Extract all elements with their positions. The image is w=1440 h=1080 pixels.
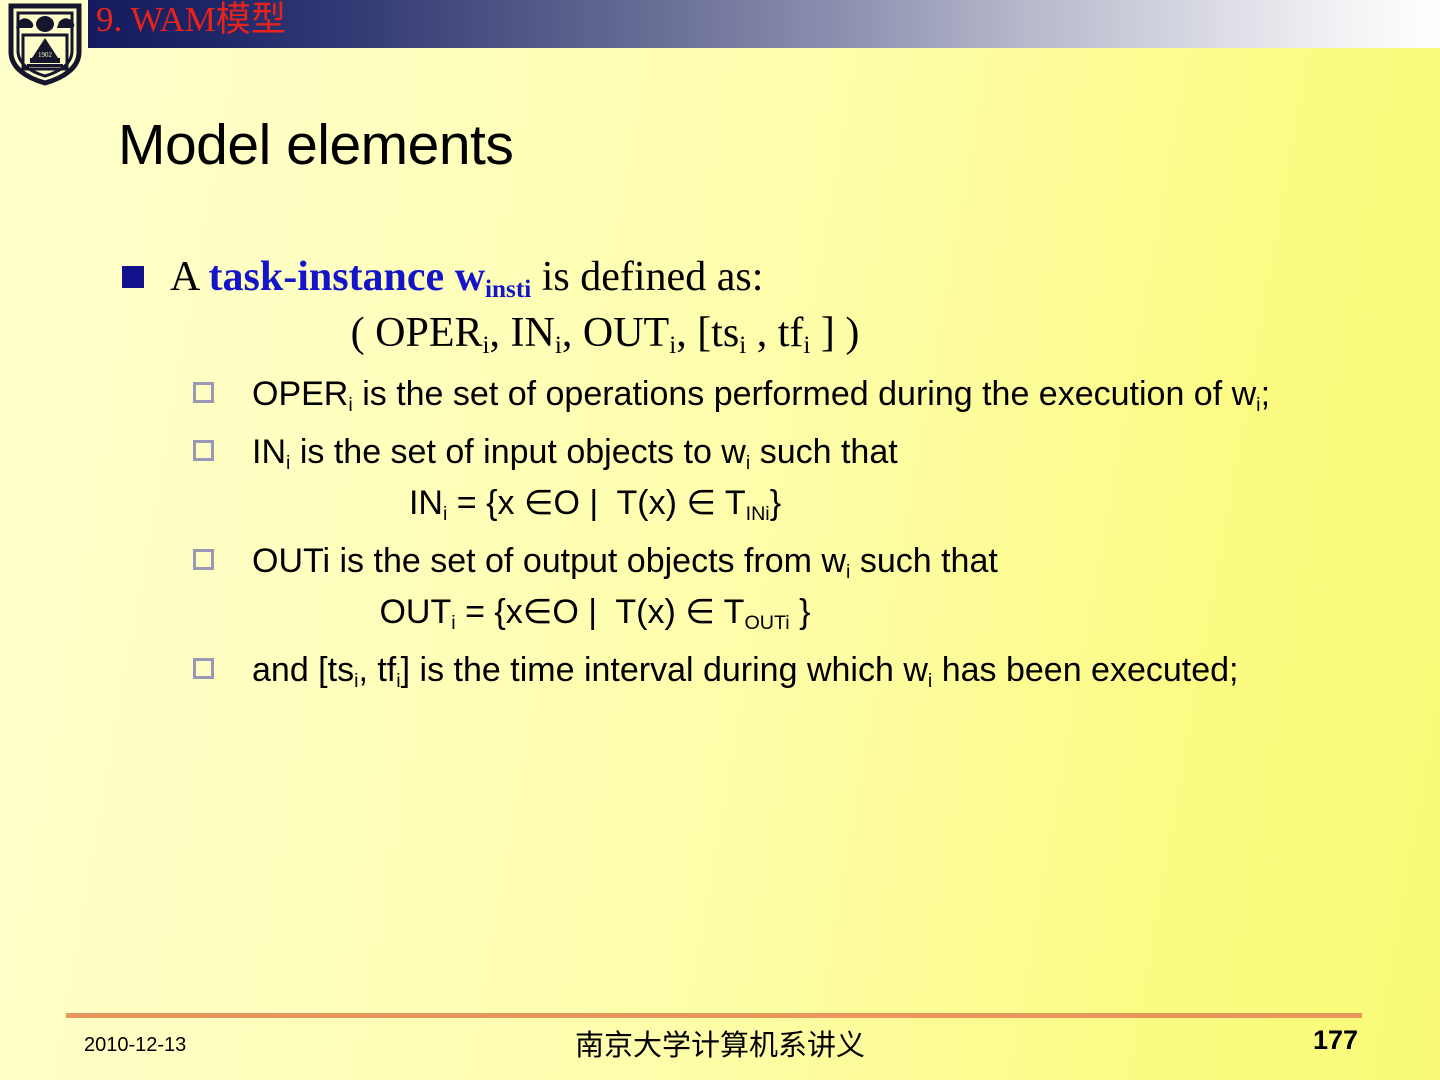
sub-i: i — [443, 503, 447, 525]
sub-ini: INi — [746, 503, 770, 525]
sub-i: i — [928, 670, 932, 692]
formula-tuple: ( OPERi, INi, OUTi, [tsi , tfi ] ) — [351, 310, 860, 356]
page-title: Model elements — [118, 112, 513, 178]
hollow-square-bullet-icon — [193, 658, 214, 679]
out-set-formula: OUTi = {x∈O | T(x) ∈ TOUTi } — [0, 587, 1440, 638]
sub-bullet-interval-text: and [tsi, tfi] is the time interval duri… — [252, 645, 1370, 696]
definition-formula: ( OPERi, INi, OUTi, [tsi , tfi ] ) — [0, 304, 1440, 362]
sub-i: i — [803, 332, 810, 359]
sub-bullet-interval: and [tsi, tfi] is the time interval duri… — [0, 645, 1440, 696]
bullet1-symbol-base: w — [455, 254, 485, 300]
sub-outi: OUTi — [744, 612, 789, 634]
bullet1-text-before: A — [170, 254, 209, 300]
bullet-level1: A task-instance winsti is defined as: — [0, 250, 1440, 304]
sub-bullet-out: OUTi is the set of output objects from w… — [0, 536, 1440, 587]
header-band — [88, 0, 1440, 48]
sub-bullet-in-text: INi is the set of input objects to wi su… — [252, 427, 1370, 478]
sub-bullet-out-text: OUTi is the set of output objects from w… — [252, 536, 1370, 587]
footer-course-title: 南京大学计算机系讲义 — [0, 1022, 1440, 1064]
slide-body: A task-instance winsti is defined as: ( … — [0, 250, 1440, 696]
sub-i: i — [483, 332, 490, 359]
hollow-square-bullet-icon — [193, 440, 214, 461]
hollow-square-bullet-icon — [193, 549, 214, 570]
sub-bullet-oper-text: OPERi is the set of operations performed… — [252, 369, 1370, 420]
sub-i: i — [739, 332, 746, 359]
sub-i: i — [354, 670, 358, 692]
sub-i: i — [669, 332, 676, 359]
bullet1-text-after: is defined as: — [531, 254, 763, 300]
hollow-square-bullet-icon — [193, 382, 214, 403]
footer-divider — [66, 1013, 1362, 1018]
nanjing-university-shield-logo: 1902 — [5, 2, 85, 86]
filled-square-bullet-icon — [122, 266, 144, 288]
bullet1-highlight-term: task-instance — [209, 254, 445, 300]
sub-i: i — [746, 452, 750, 474]
bullet1-symbol-subscript: insti — [485, 276, 531, 303]
footer-page-number: 177 — [1313, 1025, 1358, 1056]
sub-i: i — [555, 332, 562, 359]
in-set-formula: INi = {x ∈O | T(x) ∈ TINi} — [0, 478, 1440, 529]
bullet1-highlight-space — [444, 254, 455, 300]
chapter-label: 9. WAM模型 — [96, 0, 286, 44]
sub-i: i — [846, 561, 850, 583]
bullet1-symbol: winsti — [455, 254, 532, 300]
sub-i: i — [1256, 394, 1260, 416]
bullet-level1-text: A task-instance winsti is defined as: — [170, 250, 1440, 304]
sub-i: i — [348, 394, 352, 416]
svg-text:1902: 1902 — [38, 51, 53, 59]
sub-i: i — [396, 670, 400, 692]
sub-bullet-oper: OPERi is the set of operations performed… — [0, 369, 1440, 420]
sub-i: i — [286, 452, 290, 474]
sub-i: i — [451, 612, 455, 634]
sub-bullet-in: INi is the set of input objects to wi su… — [0, 427, 1440, 478]
slide-canvas: 9. WAM模型 1902 Model elements A task-inst… — [0, 0, 1440, 1080]
